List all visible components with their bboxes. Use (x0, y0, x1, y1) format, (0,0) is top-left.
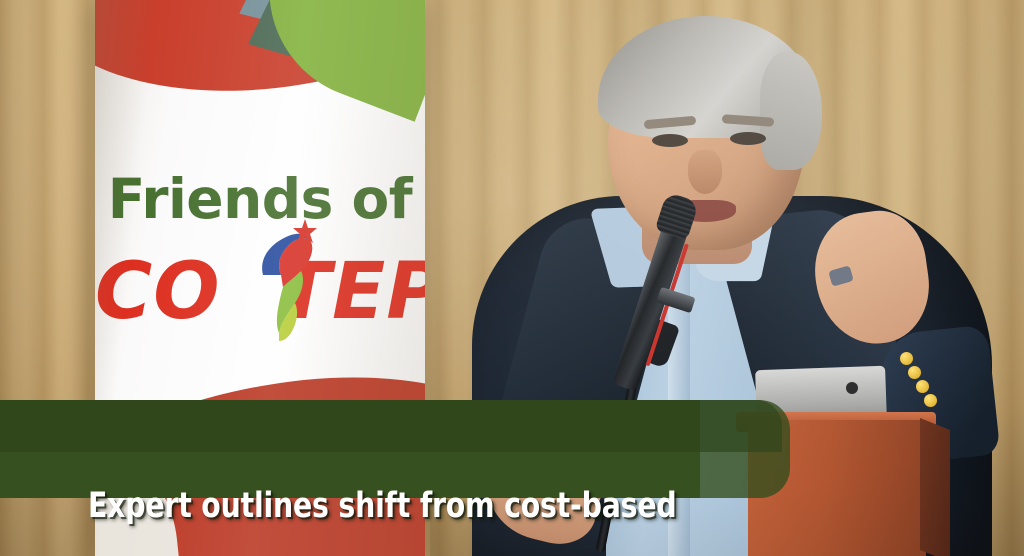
costep-logo-text: COSTEP (95, 247, 425, 337)
speaker-eye-right (730, 132, 766, 145)
laptop-camera (846, 382, 858, 394)
sleeve-button (908, 366, 921, 379)
costep-logo: COSTEP (95, 253, 425, 345)
banner-headline: Friends of (95, 172, 425, 227)
speaker-eye-left (652, 134, 688, 147)
podium (748, 420, 926, 556)
sleeve-button (924, 394, 937, 407)
costep-letters-before: CO (95, 247, 221, 337)
speaker-nose (688, 150, 722, 194)
costep-ribbon-slot: S (221, 247, 278, 337)
roll-up-banner: Friends of COSTEP (95, 0, 425, 556)
costep-letters-after: TEP (278, 247, 425, 337)
speaker (430, 0, 1024, 556)
photo-with-caption: Friends of COSTEP (0, 0, 1024, 556)
podium-side-panel (920, 418, 950, 556)
sleeve-button (900, 352, 913, 365)
speaker-hair-side (760, 52, 822, 170)
sleeve-button (916, 380, 929, 393)
banner-text-block: Friends of COSTEP (95, 172, 425, 345)
